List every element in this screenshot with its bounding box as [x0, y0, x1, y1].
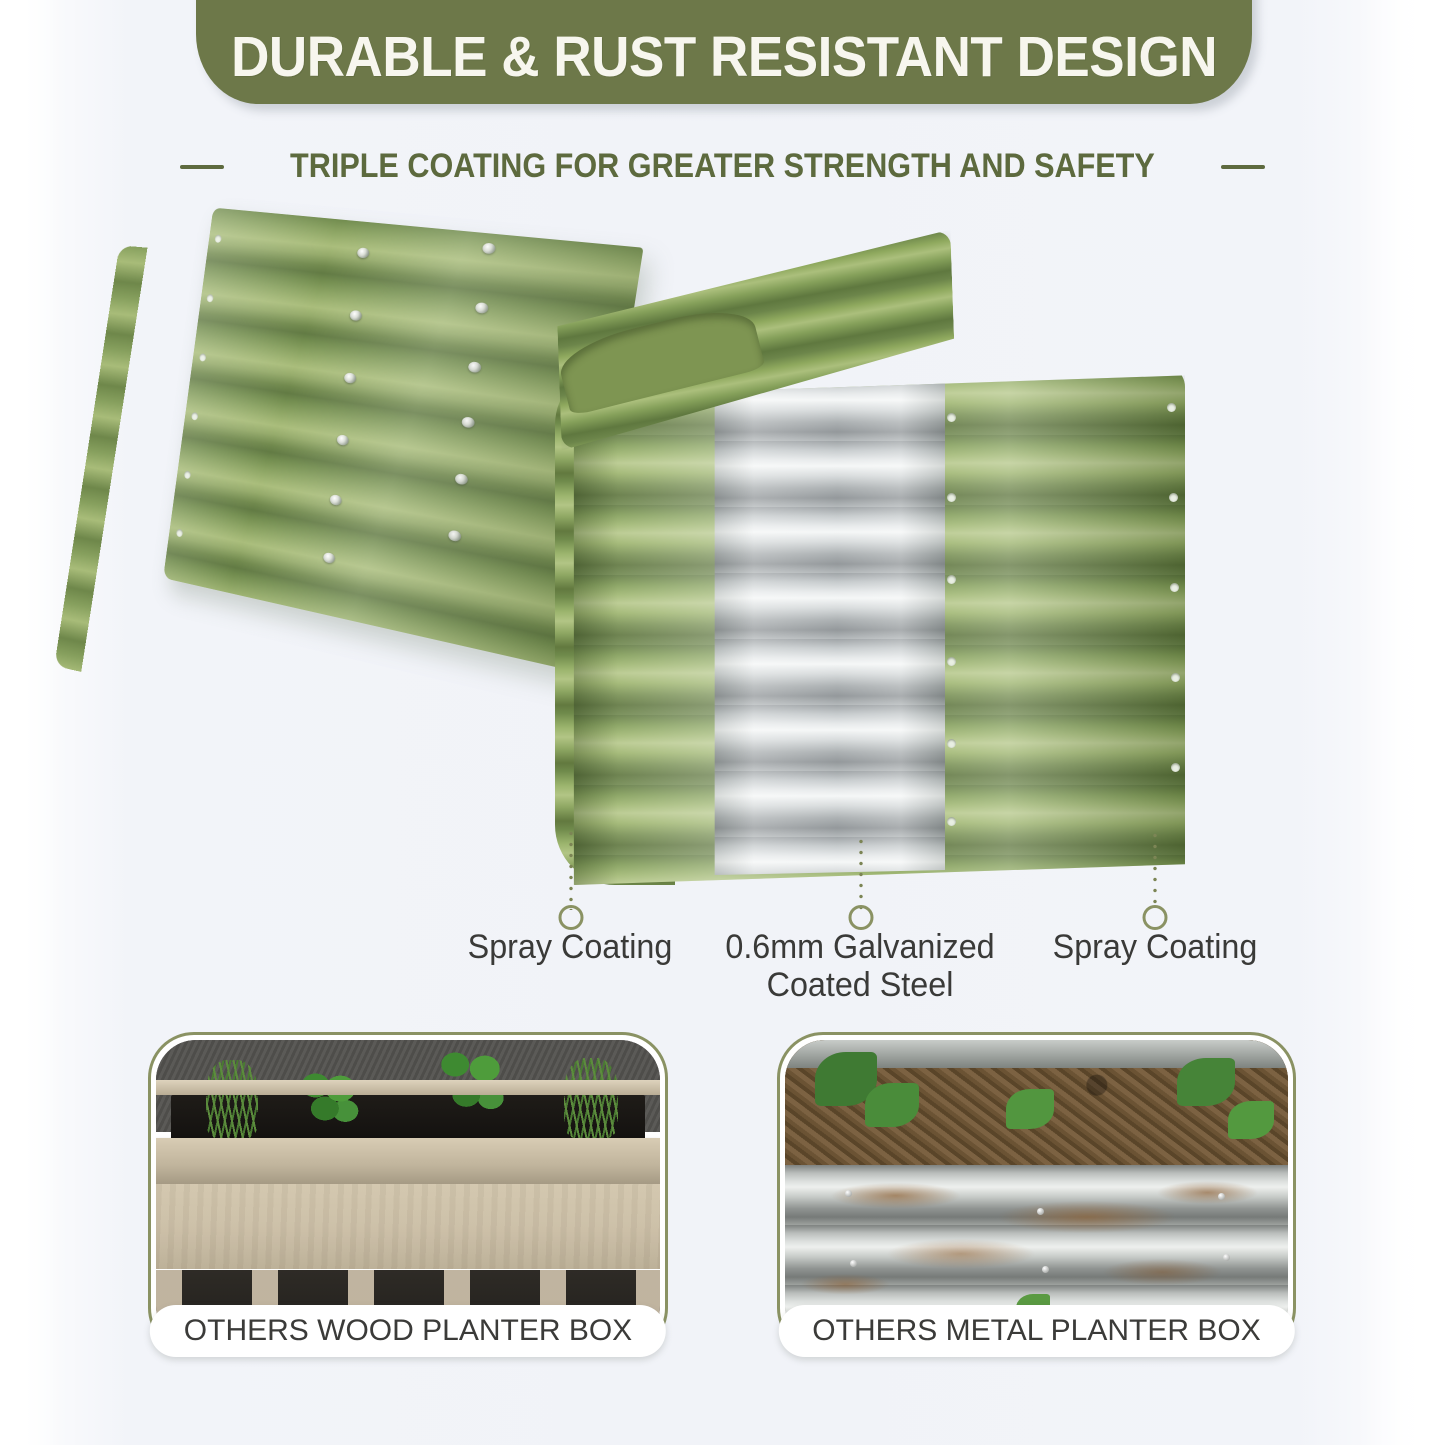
- product-illustration: [0, 205, 1445, 905]
- caption-metal-planter: OTHERS METAL PLANTER BOX: [778, 1305, 1294, 1357]
- bolt-hole: [191, 412, 198, 421]
- callout-label-line2: Coated Steel: [708, 966, 1012, 1004]
- screw-icon: [461, 416, 475, 428]
- caption-wood-planter: OTHERS WOOD PLANTER BOX: [150, 1305, 666, 1357]
- bolt-hole: [1170, 583, 1179, 592]
- screw-icon: [343, 372, 356, 384]
- bolt-hole: [1169, 493, 1178, 502]
- rivet: [1218, 1193, 1225, 1200]
- bolt-hole: [947, 413, 956, 422]
- bolt-hole: [214, 234, 222, 243]
- screw-icon: [329, 494, 342, 506]
- bolt-hole: [1171, 673, 1180, 682]
- bolt-hole: [947, 657, 956, 666]
- metal-planter-photo: [785, 1040, 1288, 1346]
- ring-marker-icon: [1143, 905, 1168, 930]
- bed-green-body: [555, 365, 1185, 885]
- plant-leaf: [1228, 1101, 1274, 1139]
- ring-marker-icon: [849, 905, 874, 930]
- plant-leaf: [865, 1083, 919, 1127]
- bolt-hole: [947, 739, 956, 748]
- screw-icon: [357, 247, 370, 258]
- plant-leaf: [1006, 1089, 1054, 1129]
- bolt-hole: [1167, 403, 1176, 412]
- screw-icon: [475, 302, 489, 314]
- wood-planter-photo: [156, 1040, 660, 1346]
- callout-label-galvanized-steel: 0.6mm Galvanized Coated Steel: [708, 928, 1012, 1004]
- subtitle-text: TRIPLE COATING FOR GREATER STRENGTH AND …: [290, 147, 1155, 186]
- wood-plank-mid: [156, 1138, 660, 1184]
- cylindrical-garden-bed: [555, 365, 1185, 885]
- bolt-hole: [184, 470, 191, 479]
- rosemary-plant: [564, 1058, 618, 1138]
- dash-left-decoration: [180, 165, 224, 169]
- subtitle-row: TRIPLE COATING FOR GREATER STRENGTH AND …: [0, 147, 1445, 186]
- rivet: [1042, 1266, 1049, 1273]
- rivet: [1037, 1208, 1044, 1215]
- screw-icon: [482, 243, 496, 255]
- bolt-hole: [947, 817, 956, 826]
- screw-icon: [349, 310, 362, 322]
- callout-label-spray-coating-left: Spray Coating: [428, 928, 713, 966]
- comparison-card-metal: OTHERS METAL PLANTER BOX: [777, 1032, 1296, 1354]
- screw-icon: [468, 361, 482, 373]
- screw-icon: [336, 434, 349, 446]
- bolt-hole: [199, 353, 206, 362]
- bolt-hole: [176, 529, 183, 538]
- comparison-card-wood: OTHERS WOOD PLANTER BOX: [148, 1032, 668, 1354]
- banner-title: DURABLE & RUST RESISTANT DESIGN: [231, 29, 1217, 104]
- galvanized-steel-cutaway: [700, 375, 945, 875]
- screw-icon: [448, 529, 462, 542]
- ring-marker-icon: [559, 905, 584, 930]
- screw-icon: [454, 473, 468, 486]
- bolt-hole: [206, 294, 213, 303]
- header-banner: DURABLE & RUST RESISTANT DESIGN: [196, 0, 1252, 104]
- panel-left-scallop-edge: [54, 245, 147, 672]
- callout-label-spray-coating-right: Spray Coating: [1013, 928, 1298, 966]
- callout-label-line1: 0.6mm Galvanized: [708, 928, 1012, 966]
- screw-icon: [323, 552, 336, 564]
- wood-plank-lower: [156, 1184, 660, 1270]
- dash-right-decoration: [1221, 165, 1265, 169]
- bolt-hole: [1171, 763, 1180, 772]
- rosemary-plant: [206, 1060, 258, 1138]
- bolt-hole: [947, 575, 956, 584]
- infographic-page: DURABLE & RUST RESISTANT DESIGN TRIPLE C…: [0, 0, 1445, 1445]
- wood-plank-top: [156, 1080, 660, 1095]
- bolt-hole: [947, 493, 956, 502]
- rivet: [1223, 1254, 1230, 1261]
